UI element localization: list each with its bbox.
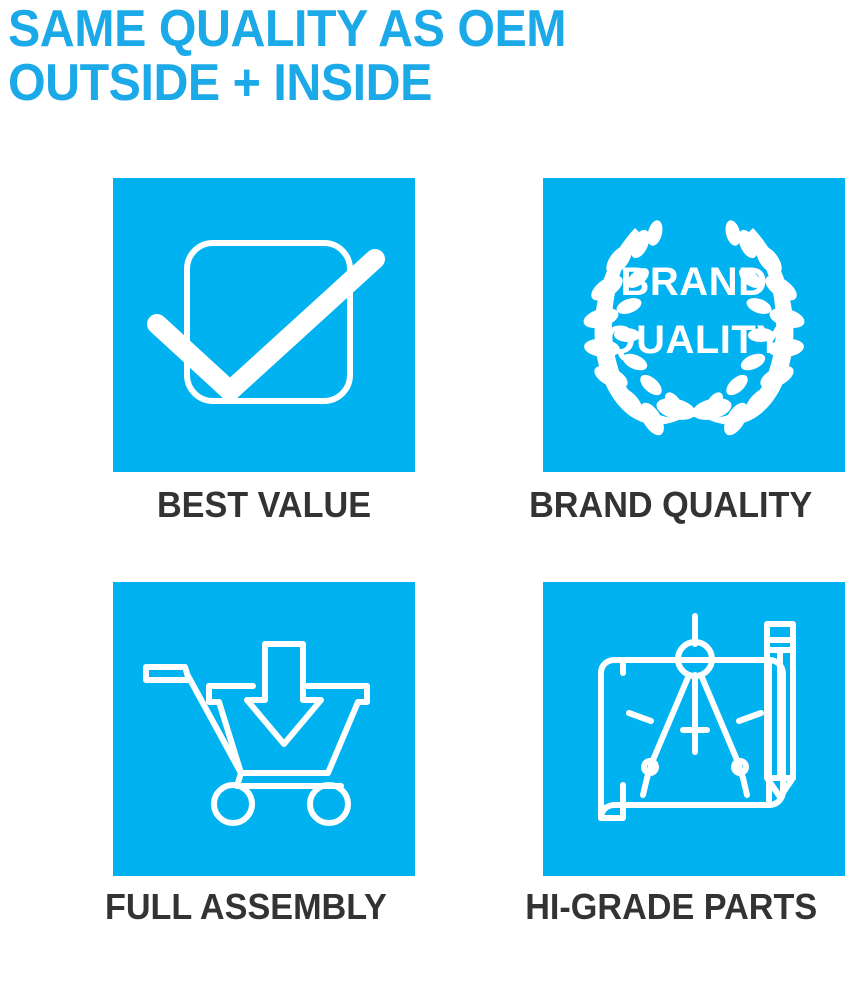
shopping-cart-download-icon — [113, 582, 415, 876]
feature-label: FULL ASSEMBLY — [105, 886, 407, 928]
headline-line-2: OUTSIDE + INSIDE — [8, 56, 795, 110]
feature-label: BRAND QUALITY — [529, 484, 837, 526]
laurel-wreath-icon — [543, 178, 845, 472]
feature-row: BEST VALUE — [0, 178, 862, 582]
feature-tile: BRAND QUALITY — [543, 178, 845, 472]
feature-highlights-page: SAME QUALITY AS OEM OUTSIDE + INSIDE BES… — [0, 0, 862, 929]
feature-item-full-assembly[interactable]: FULL ASSEMBLY — [113, 582, 415, 928]
feature-label: BEST VALUE — [121, 484, 408, 526]
feature-grid: BEST VALUE — [0, 178, 862, 986]
feature-tile — [113, 582, 415, 876]
feature-item-best-value[interactable]: BEST VALUE — [113, 178, 415, 526]
checkbox-check-icon — [113, 178, 415, 472]
feature-row: FULL ASSEMBLY — [0, 582, 862, 986]
feature-tile — [543, 582, 845, 876]
page-headline: SAME QUALITY AS OEM OUTSIDE + INSIDE — [8, 2, 854, 110]
feature-tile — [113, 178, 415, 472]
headline-line-1: SAME QUALITY AS OEM — [8, 2, 795, 56]
feature-item-hi-grade-parts[interactable]: HI-GRADE PARTS — [543, 582, 845, 928]
feature-label: HI-GRADE PARTS — [525, 886, 837, 928]
feature-item-brand-quality[interactable]: BRAND QUALITY BRAND QUALITY — [543, 178, 845, 526]
blueprint-compass-pencil-icon — [543, 582, 845, 876]
